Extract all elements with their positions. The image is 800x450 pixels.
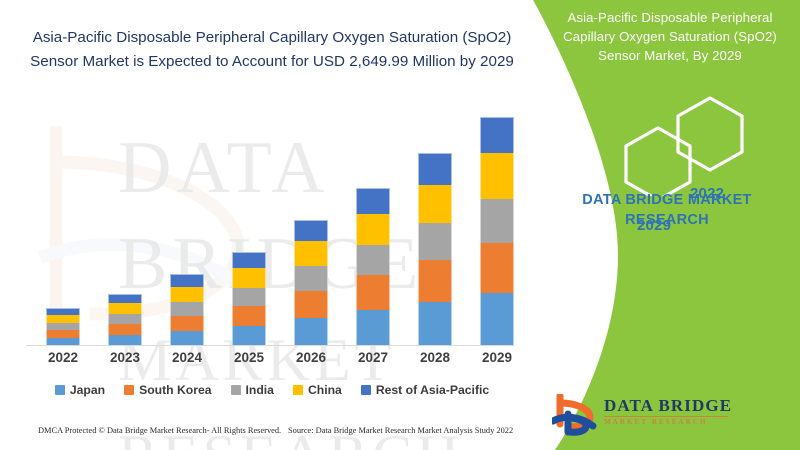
x-tick-2024: 2024 (157, 350, 217, 365)
bar-group (46, 308, 80, 345)
chart-plot-area (22, 104, 522, 346)
legend-swatch-icon (361, 385, 371, 395)
bar-group (232, 252, 266, 345)
bar-segment-japan (232, 326, 266, 345)
x-tick-2022: 2022 (33, 350, 93, 365)
bar-segment-india (232, 288, 266, 306)
bar-segment-japan (108, 335, 142, 345)
bar-segment-japan (356, 310, 390, 345)
legend-item[interactable]: South Korea (124, 383, 211, 397)
bar-segment-india (418, 223, 452, 260)
logo-wordmark: DATA BRIDGE MARKET RESEARCH (604, 396, 732, 426)
bar-segment-south-korea (46, 330, 80, 338)
bar-segment-china (232, 268, 266, 287)
legend-label: South Korea (139, 383, 211, 397)
x-axis-line (26, 345, 514, 346)
bar-segment-south-korea (232, 306, 266, 326)
logo-tagline: MARKET RESEARCH (604, 418, 732, 426)
footer-source: Source: Data Bridge Market Research Mark… (288, 426, 513, 435)
legend-item[interactable]: Rest of Asia-Pacific (361, 383, 489, 397)
x-tick-2023: 2023 (95, 350, 155, 365)
legend-label: India (246, 383, 274, 397)
bar-segment-japan (170, 331, 204, 345)
bar-segment-china (418, 185, 452, 223)
x-tick-2026: 2026 (281, 350, 341, 365)
bar-segment-rest-of-asia-pacific (356, 188, 390, 214)
company-logo: DATA BRIDGE MARKET RESEARCH (552, 392, 752, 438)
bar-segment-rest-of-asia-pacific (232, 252, 266, 268)
legend-swatch-icon (293, 385, 303, 395)
bar-segment-china (46, 315, 80, 323)
bar-segment-india (170, 302, 204, 316)
bar-segment-china (170, 287, 204, 302)
legend-swatch-icon (124, 385, 134, 395)
bar-segment-india (108, 314, 142, 324)
legend-swatch-icon (231, 385, 241, 395)
bar-segment-china (294, 241, 328, 266)
bar-segment-rest-of-asia-pacific (108, 294, 142, 303)
stacked-bar (46, 308, 80, 345)
stacked-bar (108, 294, 142, 345)
legend-swatch-icon (55, 385, 65, 395)
legend-item[interactable]: India (231, 383, 274, 397)
legend-label: Japan (70, 383, 105, 397)
bar-segment-china (356, 214, 390, 245)
legend-item[interactable]: Japan (55, 383, 105, 397)
bar-group (170, 274, 204, 345)
bar-group (356, 188, 390, 345)
bar-segment-china (108, 303, 142, 314)
stacked-bar (170, 274, 204, 345)
legend-label: Rest of Asia-Pacific (376, 383, 489, 397)
bar-segment-india (294, 266, 328, 290)
bar-segment-rest-of-asia-pacific (294, 220, 328, 241)
stacked-bar (294, 220, 328, 345)
data-bridge-logo-icon (552, 394, 598, 436)
chart-legend: JapanSouth KoreaIndiaChinaRest of Asia-P… (22, 379, 522, 401)
bar-segment-south-korea (294, 291, 328, 318)
bar-segment-south-korea (108, 324, 142, 335)
bar-segment-india (356, 245, 390, 275)
footer: DMCA Protected © Data Bridge Market Rese… (0, 424, 560, 446)
footer-copyright: DMCA Protected © Data Bridge Market Rese… (38, 426, 281, 435)
legend-label: China (308, 383, 342, 397)
stacked-bar (232, 252, 266, 345)
bar-segment-japan (418, 302, 452, 345)
x-tick-2025: 2025 (219, 350, 279, 365)
bar-group (418, 153, 452, 345)
bar-segment-japan (46, 338, 80, 345)
stacked-bar-chart (22, 104, 522, 350)
x-tick-2027: 2027 (343, 350, 403, 365)
stacked-bar (356, 188, 390, 345)
bar-segment-india (46, 323, 80, 330)
stacked-bar (418, 153, 452, 345)
bar-segment-south-korea (356, 275, 390, 309)
bar-segment-south-korea (418, 260, 452, 301)
x-tick-2028: 2028 (405, 350, 465, 365)
bar-segment-rest-of-asia-pacific (46, 308, 80, 315)
x-axis-tick-labels: 20222023202420252026202720282029 (22, 350, 522, 372)
bar-group (294, 220, 328, 345)
bar-segment-rest-of-asia-pacific (170, 274, 204, 286)
logo-divider (604, 416, 728, 417)
page-title: Asia-Pacific Disposable Peripheral Capil… (22, 26, 522, 74)
bar-segment-south-korea (170, 316, 204, 331)
bar-segment-japan (294, 318, 328, 345)
bar-group (108, 294, 142, 345)
logo-name: DATA BRIDGE (604, 396, 732, 415)
bar-segment-rest-of-asia-pacific (418, 153, 452, 184)
legend-item[interactable]: China (293, 383, 342, 397)
green-side-panel (500, 0, 800, 450)
infographic-page: DATA BRIDGE MARKET RESEARCH Asia-Pacific… (0, 0, 800, 450)
